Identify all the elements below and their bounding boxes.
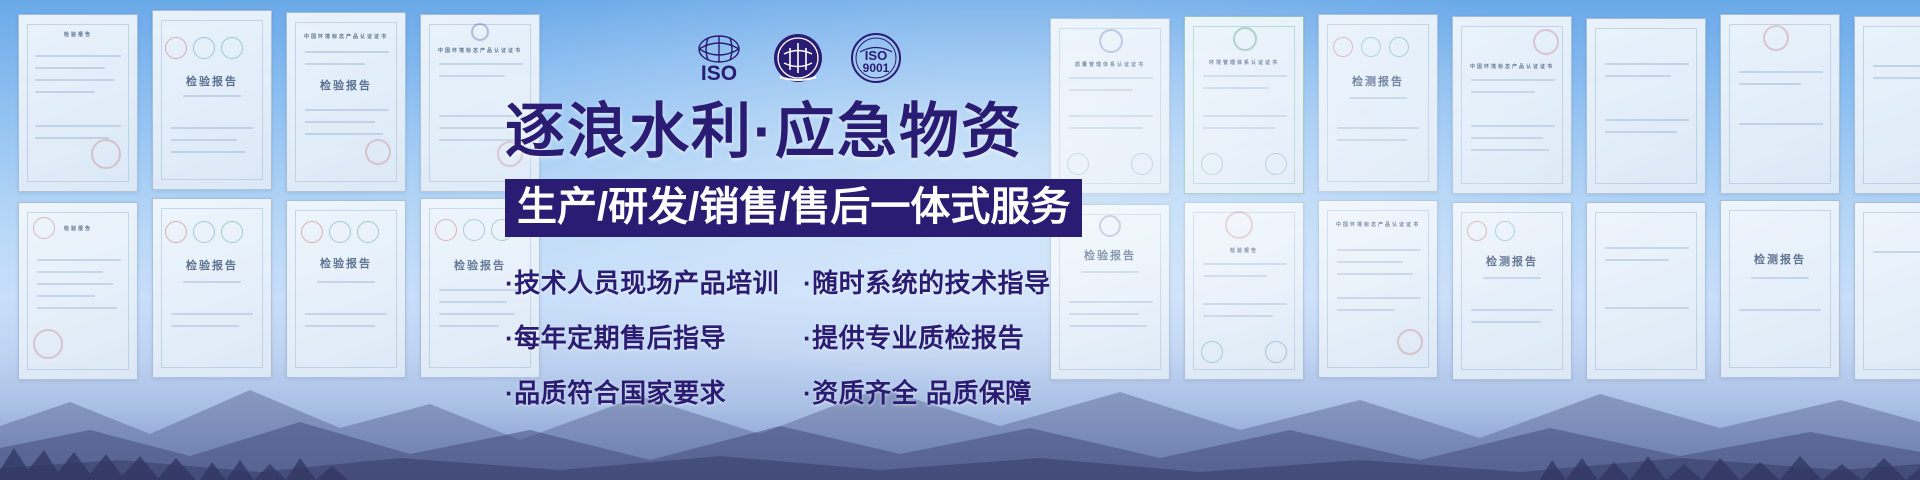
feature-item: ·品质符合国家要求 <box>505 373 795 410</box>
certificate-title: 中国环境标志产品认证证书 <box>1319 221 1437 228</box>
certificate-title: 检验报告 <box>153 73 271 89</box>
certificate-title: 检验报告 <box>1185 247 1303 254</box>
certificate-thumbnail <box>1854 16 1920 194</box>
subtitle-bar: 生产/研发/销售/售后一体式服务 <box>505 179 1082 237</box>
feature-item: ·随时系统的技术指导 <box>803 263 1085 300</box>
feature-item: ·技术人员现场产品培训 <box>505 263 795 300</box>
certificate-title: 检测报告 <box>1453 253 1571 269</box>
certificate-thumbnail: 环境管理体系认证证书 <box>1184 16 1304 194</box>
iso-logo: ISO <box>690 33 748 88</box>
iso-logo-text: ISO <box>701 62 737 83</box>
main-title: 逐浪水利·应急物资 <box>505 98 1085 165</box>
iso-9001-logo: ISO 9001 <box>848 32 904 89</box>
certificate-title: 检验报告 <box>287 255 405 271</box>
certificate-thumbnail: 中国环境标志产品认证证书 <box>1452 16 1572 194</box>
certificate-title: 质量管理体系认证证书 <box>1051 61 1169 68</box>
china-certification-logo <box>770 32 826 89</box>
certificate-thumbnail <box>1720 14 1840 194</box>
certificate-title: 检验报告 <box>19 31 137 38</box>
certificate-thumbnail: 检测报告 <box>1318 14 1438 192</box>
certificate-title: 中国环境标志产品认证证书 <box>1453 63 1571 70</box>
certificate-thumbnail: 检验报告 <box>152 10 272 190</box>
certificate-title: 中国环境标志产品认证证书 <box>421 47 539 54</box>
headline-block: 逐浪水利·应急物资 生产/研发/销售/售后一体式服务 ·技术人员现场产品培训 ·… <box>505 98 1085 410</box>
certification-logo-row: ISO ISO 9001 <box>690 32 904 89</box>
certificate-title: 检验报告 <box>153 257 271 273</box>
promotional-banner: 检验报告 检验报告 中国环境标志产品认证证书 检验报告 <box>0 0 1920 480</box>
feature-item: ·每年定期售后指导 <box>505 318 795 355</box>
feature-list: ·技术人员现场产品培训 ·随时系统的技术指导 ·每年定期售后指导 ·提供专业质检… <box>505 263 1085 410</box>
certificate-title: 中国环境标志产品认证证书 <box>287 33 405 40</box>
certificate-title: 检测报告 <box>1319 73 1437 89</box>
certificate-title: 环境管理体系认证证书 <box>1185 59 1303 66</box>
feature-item: ·提供专业质检报告 <box>803 318 1085 355</box>
certificate-title: 检验报告 <box>19 225 137 232</box>
feature-item: ·资质齐全 品质保障 <box>803 373 1085 410</box>
iso-9001-logo-number: 9001 <box>863 61 890 75</box>
certificate-thumbnail <box>1586 18 1706 194</box>
certificate-thumbnail: 中国环境标志产品认证证书 检验报告 <box>286 12 406 192</box>
certificate-thumbnail: 检验报告 <box>18 14 138 192</box>
